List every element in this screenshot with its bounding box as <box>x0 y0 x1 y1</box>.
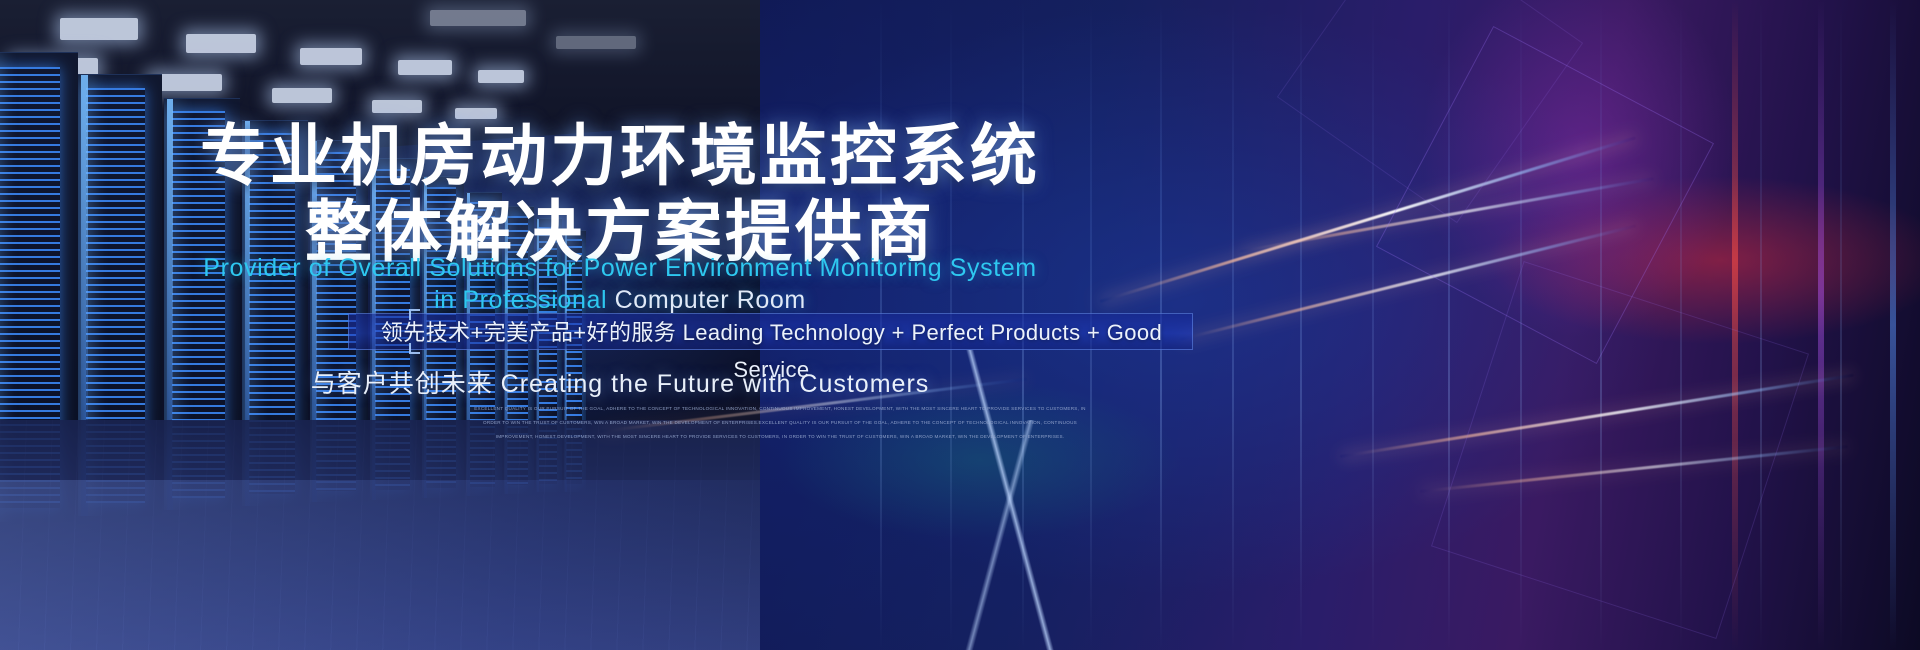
subtitle-line-2-prefix: in Professional <box>434 286 615 314</box>
subtitle-line-2: in Professional Computer Room <box>0 284 1240 316</box>
tagline: 与客户共创未来 Creating the Future with Custome… <box>0 364 1240 400</box>
hero-banner: 专业机房动力环境监控系统 整体解决方案提供商 Provider of Overa… <box>0 0 1920 650</box>
slogan-ribbon: 领先技术+完美产品+好的服务 Leading Technology + Perf… <box>348 313 1193 350</box>
subtitle-line-2-highlight: Computer Room <box>615 286 806 314</box>
fineprint-line: ORDER TO WIN THE TRUST OF CUSTOMERS, WIN… <box>470 416 1090 430</box>
slogan-ribbon-text: 领先技术+完美产品+好的服务 Leading Technology + Perf… <box>349 314 1194 351</box>
fineprint-line: IMPROVEMENT, HONEST DEVELOPMENT, WITH TH… <box>470 430 1090 444</box>
headline: 专业机房动力环境监控系统 整体解决方案提供商 <box>0 118 1240 270</box>
subtitle: Provider of Overall Solutions for Power … <box>0 252 1240 316</box>
banner-content: 专业机房动力环境监控系统 整体解决方案提供商 Provider of Overa… <box>0 0 1920 650</box>
headline-line-1: 专业机房动力环境监控系统 <box>200 117 1040 195</box>
fineprint-paragraph: EXCELLENT QUALITY IS OUR PURSUIT OF THE … <box>470 402 1090 444</box>
fineprint-line: EXCELLENT QUALITY IS OUR PURSUIT OF THE … <box>470 402 1090 416</box>
subtitle-line-1: Provider of Overall Solutions for Power … <box>203 254 1036 282</box>
